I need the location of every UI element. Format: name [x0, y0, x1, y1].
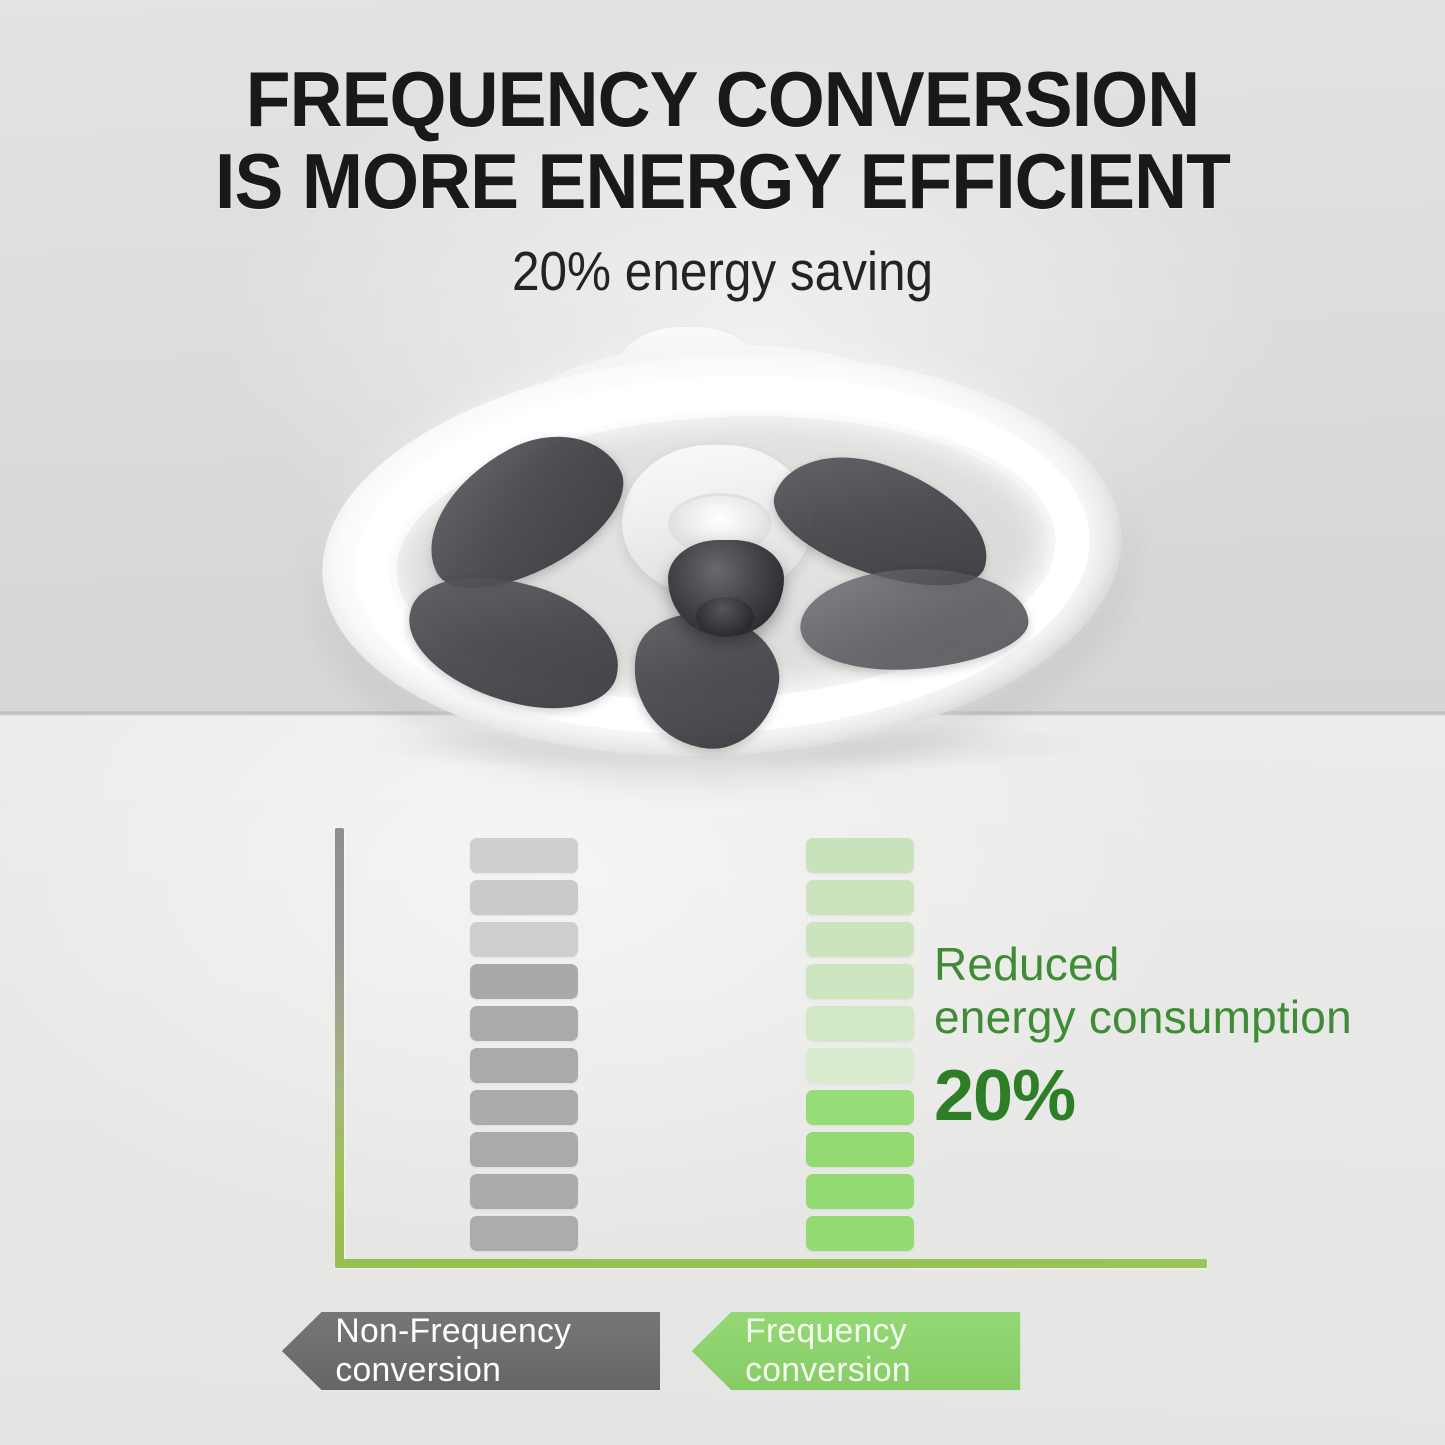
subheadline: 20% energy saving — [72, 240, 1373, 302]
fan-hub-cap — [696, 597, 754, 637]
headline-line-1: FREQUENCY CONVERSION — [246, 55, 1200, 143]
legend-banner-frequency: Frequency conversion — [692, 1312, 1021, 1390]
bar-segment-grey-1 — [470, 838, 578, 873]
bar-segment-grey-2 — [470, 880, 578, 915]
bar-segment-grey-3 — [470, 922, 578, 957]
bar-column-non-frequency — [470, 838, 578, 1258]
ceiling-fan-product-image — [300, 325, 1160, 775]
bar-column-frequency — [806, 838, 914, 1258]
chart-y-axis — [335, 828, 344, 1268]
bar-segment-grey-4 — [470, 964, 578, 999]
bar-segment-green-4 — [806, 964, 914, 999]
bar-segment-grey-10 — [470, 1216, 578, 1251]
bar-segment-grey-5 — [470, 1006, 578, 1041]
bar-segment-grey-8 — [470, 1132, 578, 1167]
legend-label-non-frequency: Non-Frequency conversion — [335, 1312, 660, 1390]
chart-x-axis — [335, 1259, 1207, 1268]
bar-segment-green-6 — [806, 1048, 914, 1083]
reduced-consumption-callout: Reduced energy consumption 20% — [934, 938, 1364, 1134]
bar-segment-green-9 — [806, 1174, 914, 1209]
bar-segment-green-10 — [806, 1216, 914, 1251]
bar-segment-grey-6 — [470, 1048, 578, 1083]
bar-segment-grey-7 — [470, 1090, 578, 1125]
bar-segment-green-5 — [806, 1006, 914, 1041]
legend-label-frequency: Frequency conversion — [745, 1312, 1020, 1390]
callout-line-2: energy consumption — [934, 991, 1364, 1044]
infographic-canvas: FREQUENCY CONVERSION IS MORE ENERGY EFFI… — [0, 0, 1445, 1445]
callout-line-1: Reduced — [934, 938, 1364, 991]
bar-segment-green-8 — [806, 1132, 914, 1167]
bar-segment-green-2 — [806, 880, 914, 915]
headline-line-2: IS MORE ENERGY EFFICIENT — [43, 140, 1401, 222]
bar-segment-green-7 — [806, 1090, 914, 1125]
bar-segment-green-1 — [806, 838, 914, 873]
legend-banner-non-frequency: Non-Frequency conversion — [282, 1312, 660, 1390]
bar-segment-grey-9 — [470, 1174, 578, 1209]
callout-percent-value: 20% — [934, 1058, 1364, 1134]
headline: FREQUENCY CONVERSION IS MORE ENERGY EFFI… — [43, 58, 1401, 222]
bar-segment-green-3 — [806, 922, 914, 957]
